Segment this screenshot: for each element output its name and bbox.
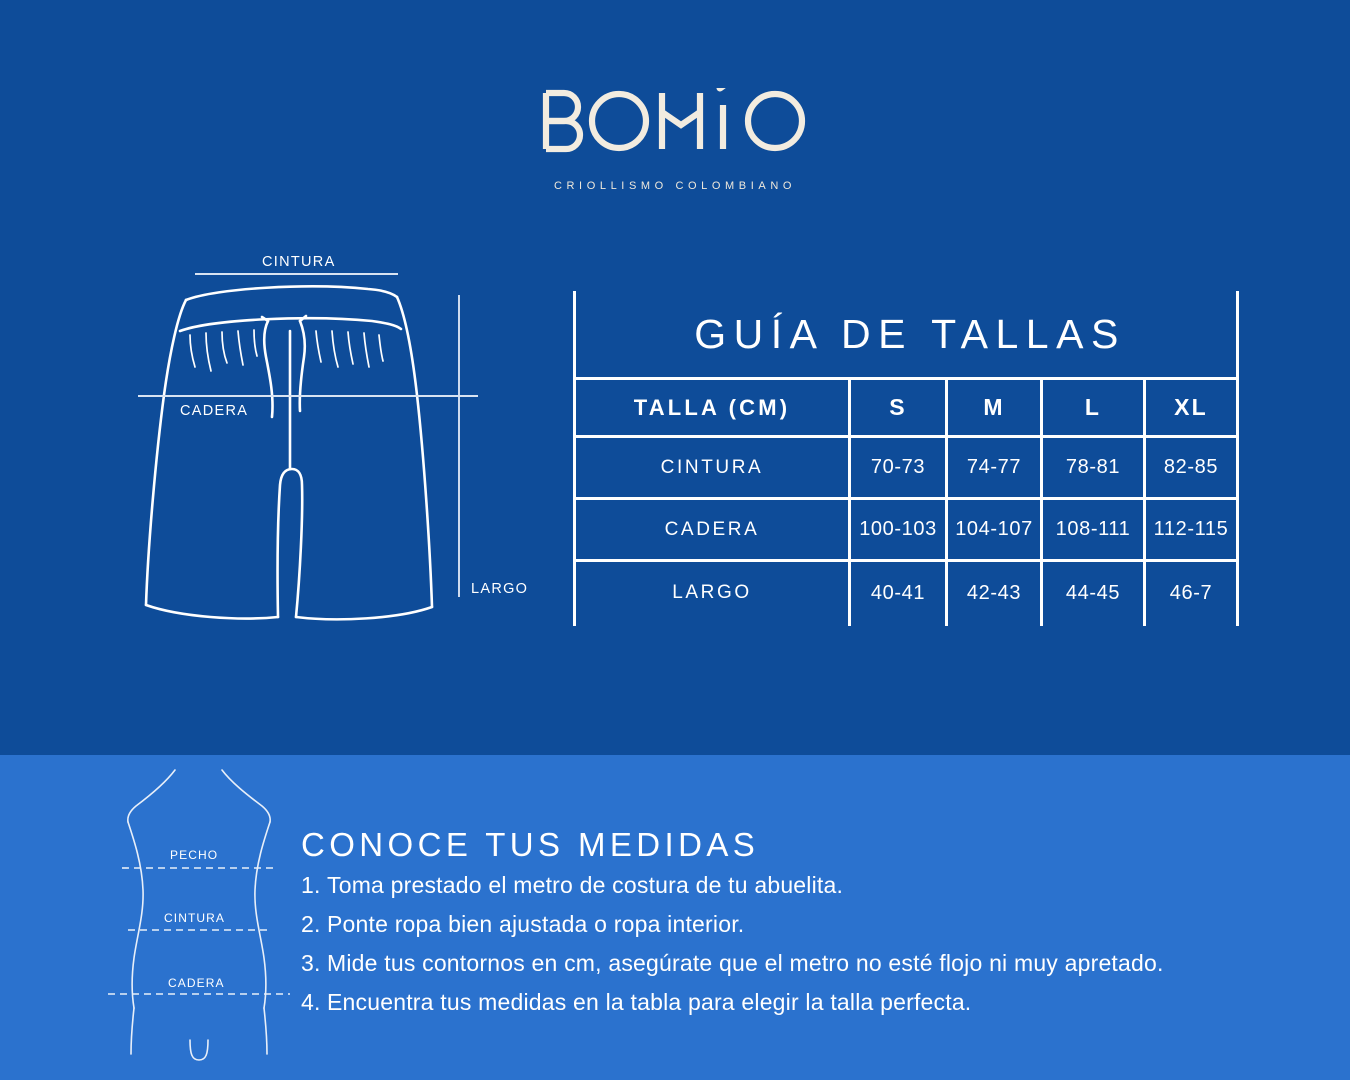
- table-border-right: [1236, 291, 1239, 626]
- size-guide-page: CRIOLLISMO COLOMBIANO: [0, 0, 1350, 1080]
- brand-tagline: CRIOLLISMO COLOMBIANO: [0, 180, 1350, 192]
- brand-wordmark-icon: [540, 88, 810, 154]
- list-item: 1. Toma prestado el metro de costura de …: [301, 872, 1311, 899]
- table-header-size-m: M: [948, 380, 1040, 435]
- list-item-number: 4.: [301, 989, 327, 1016]
- table-header-size-l: L: [1043, 380, 1143, 435]
- shorts-label-hip: CADERA: [180, 403, 248, 419]
- table-cell: 78-81: [1043, 438, 1143, 497]
- table-row-label-largo: LARGO: [576, 562, 848, 624]
- list-item-text: Toma prestado el metro de costura de tu …: [327, 872, 843, 899]
- list-item-number: 1.: [301, 872, 327, 899]
- list-item-text: Mide tus contornos en cm, asegúrate que …: [327, 950, 1164, 977]
- list-item: 3. Mide tus contornos en cm, asegúrate q…: [301, 950, 1311, 977]
- body-label-chest: PECHO: [170, 848, 218, 862]
- table-header-size-xl: XL: [1146, 380, 1236, 435]
- body-label-hip: CADERA: [168, 976, 225, 990]
- body-label-waist: CINTURA: [164, 911, 225, 925]
- list-item-number: 3.: [301, 950, 327, 977]
- list-item-text: Encuentra tus medidas en la tabla para e…: [327, 989, 971, 1016]
- list-item: 4. Encuentra tus medidas en la tabla par…: [301, 989, 1311, 1016]
- table-row-label-cintura: CINTURA: [576, 438, 848, 497]
- shorts-label-length: LARGO: [471, 581, 528, 597]
- instructions-list: 1. Toma prestado el metro de costura de …: [301, 872, 1311, 1028]
- list-item-text: Ponte ropa bien ajustada o ropa interior…: [327, 911, 744, 938]
- table-cell: 104-107: [948, 500, 1040, 559]
- table-cell: 40-41: [851, 562, 945, 624]
- list-item: 2. Ponte ropa bien ajustada o ropa inter…: [301, 911, 1311, 938]
- table-cell: 70-73: [851, 438, 945, 497]
- table-cell: 108-111: [1043, 500, 1143, 559]
- brand-logo: [0, 88, 1350, 159]
- table-header-size-s: S: [851, 380, 945, 435]
- shorts-measure-lines: [0, 240, 560, 640]
- table-cell: 100-103: [851, 500, 945, 559]
- table-header-label: TALLA (CM): [576, 380, 848, 435]
- table-cell: 112-115: [1146, 500, 1236, 559]
- table-cell: 82-85: [1146, 438, 1236, 497]
- table-cell: 46-7: [1146, 562, 1236, 624]
- instructions-title: CONOCE TUS MEDIDAS: [301, 826, 759, 864]
- table-title: GUÍA DE TALLAS: [576, 291, 1236, 377]
- table-cell: 42-43: [948, 562, 1040, 624]
- table-cell: 74-77: [948, 438, 1040, 497]
- shorts-label-waist: CINTURA: [262, 254, 336, 270]
- size-table: GUÍA DE TALLAS TALLA (CM) S M L XL CINTU…: [573, 291, 1239, 626]
- table-row-label-cadera: CADERA: [576, 500, 848, 559]
- table-cell: 44-45: [1043, 562, 1143, 624]
- list-item-number: 2.: [301, 911, 327, 938]
